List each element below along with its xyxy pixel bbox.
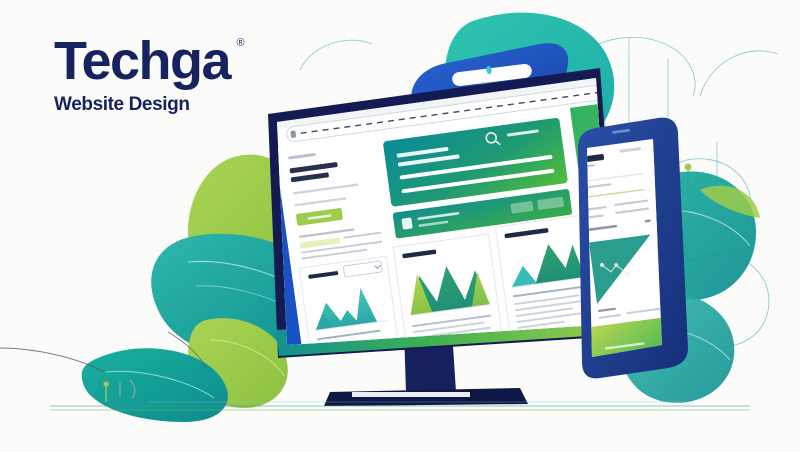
scene-artwork	[0, 0, 800, 452]
address-bar-lock-icon	[290, 130, 296, 138]
sub-bar-icon	[401, 217, 412, 229]
monitor-foot-highlight	[352, 392, 470, 397]
illustration-canvas: Techga ® Website Design	[0, 0, 800, 452]
